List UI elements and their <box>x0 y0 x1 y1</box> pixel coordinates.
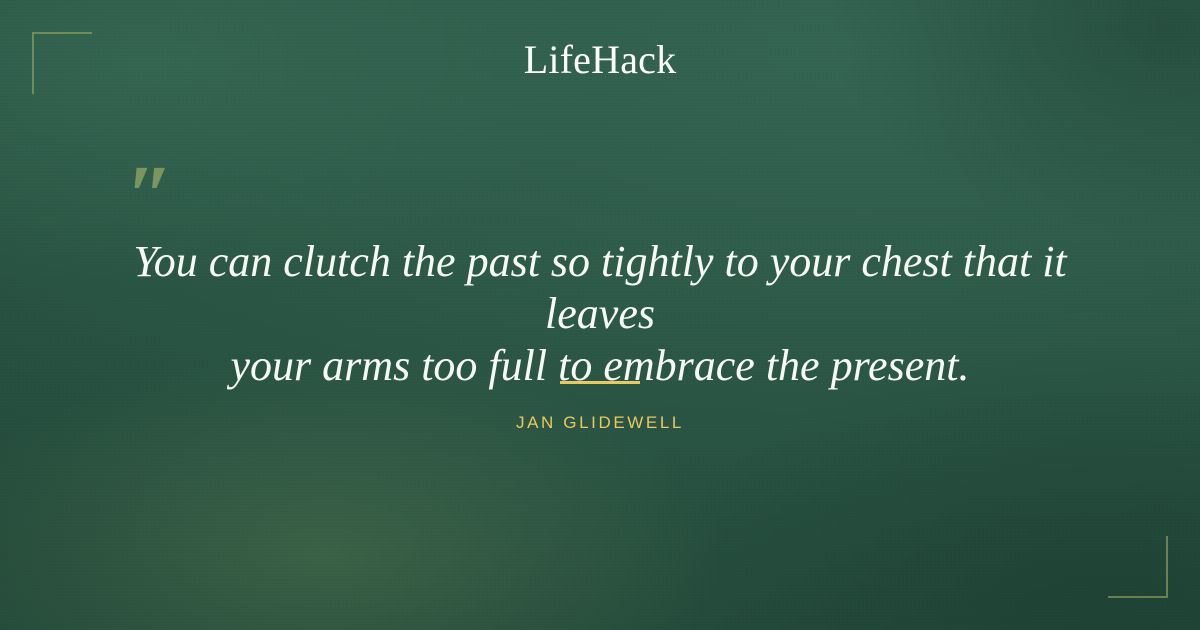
quotation-mark-icon: ″ <box>126 152 174 238</box>
quote-author: JAN GLIDEWELL <box>0 413 1200 433</box>
divider-container <box>0 381 1200 384</box>
brand-logo: LifeHack <box>0 40 1200 80</box>
quote-text: You can clutch the past so tightly to yo… <box>90 236 1110 392</box>
quote-line-1: You can clutch the past so tightly to yo… <box>90 236 1110 340</box>
quote-card: LifeHack ″ You can clutch the past so ti… <box>0 0 1200 630</box>
gold-divider <box>560 381 640 384</box>
